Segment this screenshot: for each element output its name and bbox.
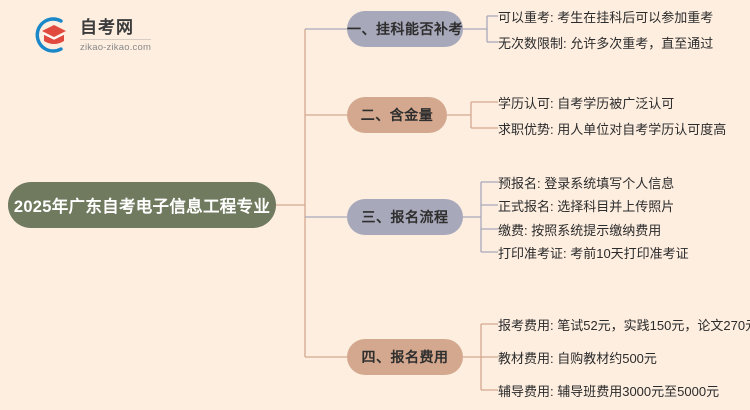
- mindmap-leaf-item: 学历认可: 自考学历被广泛认可: [498, 97, 674, 110]
- mindmap-branch-2-label: 二、含金量: [361, 105, 434, 125]
- logo-domain: zikao-zikao.com: [80, 39, 151, 53]
- mindmap-root-label: 2025年广东自考电子信息工程专业: [14, 193, 270, 217]
- mindmap-leaf-item: 预报名: 登录系统填写个人信息: [498, 177, 674, 190]
- mindmap-branch-1[interactable]: 一、挂科能否补考: [347, 11, 463, 47]
- mindmap-branch-4-label: 四、报名费用: [362, 347, 449, 367]
- mindmap-branch-3[interactable]: 三、报名流程: [347, 199, 463, 235]
- mindmap-leaf-item: 缴费: 按照系统提示缴纳费用: [498, 224, 661, 237]
- mindmap-leaf-item: 可以重考: 考生在挂科后可以参加重考: [498, 11, 713, 24]
- mindmap-leaf-item: 正式报名: 选择科目并上传照片: [498, 200, 674, 213]
- mindmap-leaf-item: 无次数限制: 允许多次重考，直至通过: [498, 37, 713, 50]
- graduation-cap-circle-icon: [28, 13, 72, 57]
- logo-text: 自考网 zikao-zikao.com: [80, 17, 151, 53]
- mindmap-root-node[interactable]: 2025年广东自考电子信息工程专业: [8, 182, 276, 228]
- mindmap-leaf-item: 求职优势: 用人单位对自考学历认可度高: [498, 123, 726, 136]
- logo-site-name: 自考网: [80, 19, 151, 38]
- mindmap-leaf-item: 教材费用: 自购教材约500元: [498, 352, 657, 365]
- mindmap-branch-4[interactable]: 四、报名费用: [347, 339, 463, 375]
- mindmap-branch-2[interactable]: 二、含金量: [347, 97, 447, 133]
- mindmap-leaf-item: 打印准考证: 考前10天打印准考证: [498, 247, 689, 260]
- mindmap-leaf-item: 报考费用: 笔试52元，实践150元，论文270元: [498, 319, 750, 332]
- mindmap-leaf-item: 辅导费用: 辅导班费用3000元至5000元: [498, 385, 719, 398]
- site-logo: 自考网 zikao-zikao.com: [28, 12, 228, 58]
- mindmap-branch-1-label: 一、挂科能否补考: [347, 19, 463, 39]
- mindmap-branch-3-label: 三、报名流程: [362, 207, 449, 227]
